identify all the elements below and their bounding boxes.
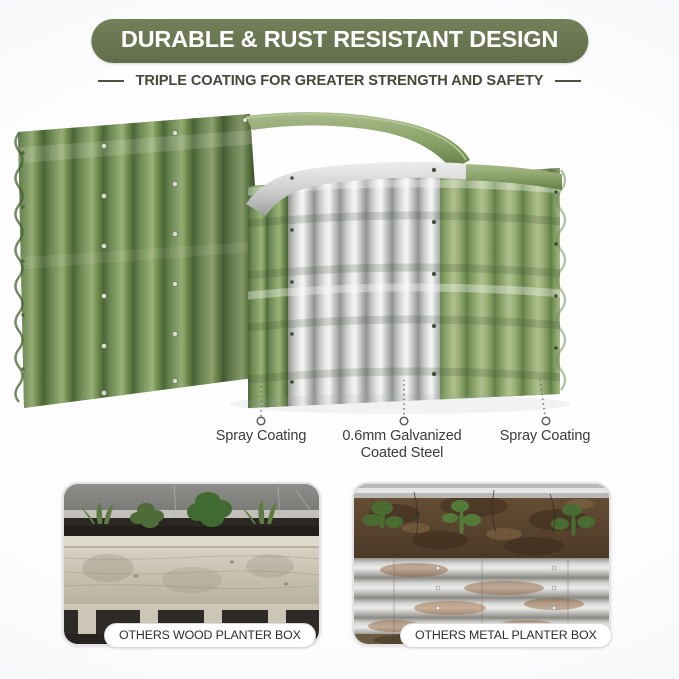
page-subtitle: TRIPLE COATING FOR GREATER STRENGTH AND …: [136, 73, 544, 89]
comparison-photo-wood: [62, 482, 321, 646]
comparison-photo-metal: [352, 482, 611, 646]
header: DURABLE & RUST RESISTANT DESIGN TRIPLE C…: [0, 0, 679, 110]
callout-marker-1: [400, 417, 408, 425]
divider-dash-right: [555, 80, 581, 82]
panel-top-rim: [246, 112, 470, 170]
title-badge: DURABLE & RUST RESISTANT DESIGN: [91, 19, 588, 63]
callout-label-spray-coating-left: Spray Coating: [186, 428, 336, 445]
callout-leader-2: [540, 380, 545, 416]
divider-dash-left: [98, 80, 124, 82]
page-title: DURABLE & RUST RESISTANT DESIGN: [121, 28, 558, 52]
callout-label-galvanized-steel: 0.6mm Galvanized Coated Steel: [322, 428, 482, 462]
photo-caption-metal: OTHERS METAL PLANTER BOX: [400, 623, 612, 648]
photo-caption-wood: OTHERS WOOD PLANTER BOX: [104, 623, 316, 648]
subtitle-row: TRIPLE COATING FOR GREATER STRENGTH AND …: [0, 73, 679, 89]
callout-group: Spray Coating 0.6mm Galvanized Coated St…: [0, 380, 679, 470]
callout-label-spray-coating-right: Spray Coating: [470, 428, 620, 445]
callout-marker-2: [542, 417, 550, 425]
callout-marker-0: [257, 417, 265, 425]
cylinder-body: [244, 108, 572, 426]
infographic-page: DURABLE & RUST RESISTANT DESIGN TRIPLE C…: [0, 0, 679, 679]
green-coated-panel: [10, 108, 284, 426]
product-illustration: [0, 108, 679, 426]
